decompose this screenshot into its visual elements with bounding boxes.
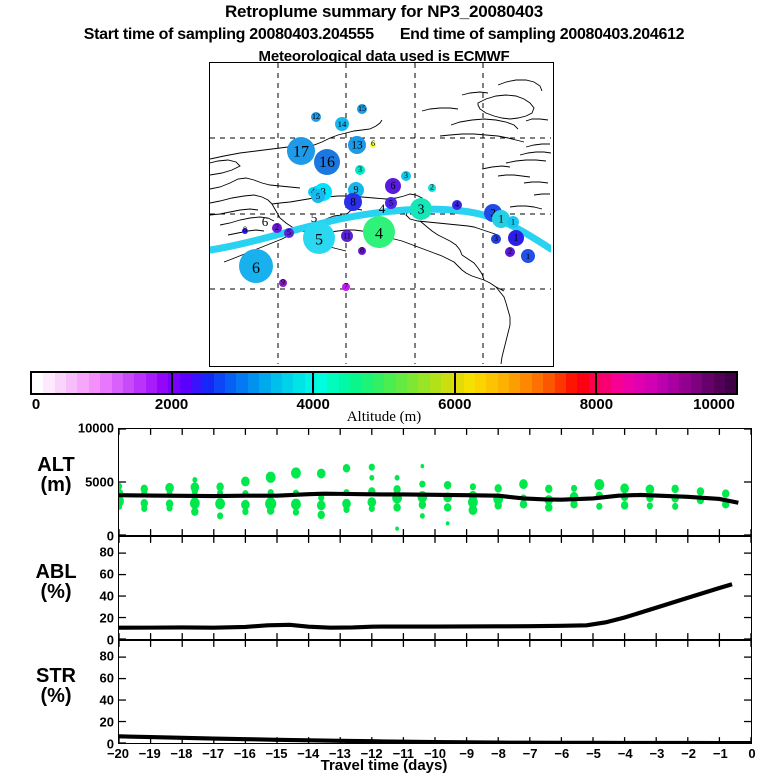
retroplume-marker-label: 17 <box>293 144 309 161</box>
colorbar-divider <box>595 371 597 395</box>
retroplume-marker-label: 2 <box>275 223 279 232</box>
alt-point <box>647 502 653 509</box>
colorbar-swatch <box>123 373 134 393</box>
alt-point <box>646 484 655 494</box>
alt-point <box>166 504 172 511</box>
alt-point <box>241 477 250 487</box>
retroplume-marker-label: 6 <box>391 181 396 192</box>
abl-tick-marks <box>119 537 751 639</box>
retroplume-marker-label: 8 <box>243 225 247 234</box>
retroplume-marker-label: 9 <box>281 278 285 287</box>
retroplume-marker-label: 2 <box>430 183 434 192</box>
alt-mean-line <box>119 494 738 503</box>
colorbar-swatch <box>225 373 236 393</box>
retroplume-marker-label: 3 <box>494 234 498 243</box>
alt-point <box>444 503 451 511</box>
colorbar-swatch <box>589 373 600 393</box>
retroplume-marker-label: 14 <box>338 119 347 129</box>
map-label: 5 <box>311 210 318 225</box>
alt-point <box>266 472 276 483</box>
colorbar-swatch <box>134 373 145 393</box>
abl-series-line <box>119 584 732 627</box>
alt-point <box>420 513 425 519</box>
str-y-ticks: 020406080 <box>48 0 114 768</box>
retroplume-marker-label: 3 <box>418 201 425 216</box>
colorbar-gradient <box>30 371 738 395</box>
colorbar-swatch <box>600 373 611 393</box>
alt-point <box>242 508 248 515</box>
retroplume-marker-label: 15 <box>358 104 366 113</box>
alt-point <box>267 506 274 514</box>
retroplume-marker-label: 1 <box>498 214 504 226</box>
retroplume-marker-label: 5 <box>316 191 321 201</box>
colorbar-swatch <box>441 373 452 393</box>
start-time-label: Start time of sampling 20080403.204555 <box>84 26 374 43</box>
retroplume-markers: 1841716121415136332985653421131214568251… <box>239 104 535 291</box>
colorbar-swatch <box>577 373 588 393</box>
colorbar-swatch <box>714 373 725 393</box>
retroplume-marker-label: 3 <box>358 165 362 174</box>
alt-point <box>470 483 476 490</box>
colorbar-swatch <box>407 373 418 393</box>
colorbar-swatch <box>361 373 372 393</box>
alt-point <box>469 505 478 515</box>
alt-point <box>419 501 426 509</box>
colorbar-swatch <box>418 373 429 393</box>
colorbar-swatch <box>509 373 520 393</box>
colorbar-swatch <box>248 373 259 393</box>
colorbar-swatch <box>146 373 157 393</box>
retroplume-marker-label: 5 <box>315 231 323 248</box>
colorbar-swatch <box>475 373 486 393</box>
alt-point <box>697 487 704 495</box>
retroplume-marker-label: 16 <box>319 154 335 171</box>
alt-point <box>545 485 552 493</box>
alt-point <box>291 499 301 510</box>
alt-point <box>293 509 299 516</box>
alt-point <box>520 500 527 508</box>
alt-point <box>594 479 604 490</box>
alt-point <box>519 479 528 489</box>
alt-point <box>317 469 326 479</box>
colorbar-swatch <box>350 373 361 393</box>
retroplume-marker-label: 4 <box>375 225 383 242</box>
alt-plot-panel[interactable] <box>118 428 752 536</box>
colorbar-swatch <box>543 373 554 393</box>
alt-point <box>621 501 628 509</box>
colorbar-divider <box>171 371 173 395</box>
alt-point <box>446 521 450 525</box>
str-plot-panel[interactable] <box>118 640 752 744</box>
end-time-label: End time of sampling 20080403.204612 <box>400 26 684 43</box>
colorbar-swatch <box>520 373 531 393</box>
retroplume-marker-label: 8 <box>350 197 356 209</box>
colorbar-swatch <box>532 373 543 393</box>
alt-point <box>419 481 425 488</box>
y-tick-label: 60 <box>54 671 114 686</box>
retroplume-marker-label: 1 <box>514 233 519 244</box>
alt-point <box>317 500 326 510</box>
map-label: 4 <box>379 201 386 216</box>
colorbar-swatch <box>657 373 668 393</box>
retroplume-marker-label: 12 <box>312 112 320 121</box>
map-canvas: 1841716121415136332985653421131214568251… <box>210 63 551 364</box>
retroplume-marker-label: 8 <box>360 246 364 255</box>
colorbar-swatch <box>691 373 702 393</box>
colorbar-swatch <box>293 373 304 393</box>
colorbar-divider <box>312 371 314 395</box>
colorbar-swatch <box>373 373 384 393</box>
colorbar-swatch <box>236 373 247 393</box>
page-title: Retroplume summary for NP3_20080403 <box>0 2 768 22</box>
alt-point <box>671 485 678 493</box>
retroplume-marker-label: 7 <box>344 282 348 291</box>
abl-plot-canvas <box>119 537 751 639</box>
alt-point <box>217 512 223 519</box>
colorbar-swatch <box>282 373 293 393</box>
colorbar-swatch <box>725 373 736 393</box>
str-plot-canvas <box>119 641 751 743</box>
retroplume-marker-label: 6 <box>371 139 375 148</box>
alt-point <box>722 489 729 497</box>
colorbar-swatch <box>339 373 350 393</box>
retroplume-map[interactable]: 1841716121415136332985653421131214568251… <box>209 62 554 367</box>
y-tick-label: 20 <box>54 715 114 730</box>
altitude-colorbar[interactable] <box>30 371 738 395</box>
colorbar-swatch <box>668 373 679 393</box>
retroplume-marker-label: 5 <box>389 198 393 207</box>
retroplume-marker-label: 2 <box>508 247 512 256</box>
retroplume-marker-label: 4 <box>455 200 459 209</box>
alt-point <box>421 464 425 468</box>
str-tick-marks <box>119 641 751 743</box>
alt-point <box>369 464 375 471</box>
colorbar-swatch <box>396 373 407 393</box>
alt-point <box>343 506 349 513</box>
colorbar-swatch <box>191 373 202 393</box>
alt-point <box>395 527 399 531</box>
alt-plot-canvas <box>119 429 751 535</box>
alt-point <box>215 498 225 509</box>
colorbar-swatch <box>566 373 577 393</box>
retroplume-marker-label: 13 <box>351 140 363 152</box>
colorbar-swatch <box>679 373 690 393</box>
alt-point <box>192 477 197 483</box>
retroplume-marker-label: 1 <box>526 251 530 261</box>
colorbar-swatch <box>316 373 327 393</box>
colorbar-swatch <box>464 373 475 393</box>
retroplume-marker-label: 11 <box>343 231 351 240</box>
x-axis-title: Travel time (days) <box>0 757 768 774</box>
retroplume-marker-label: 3 <box>404 171 408 180</box>
retroplume-marker-label: 1 <box>511 217 515 226</box>
colorbar-swatch <box>498 373 509 393</box>
colorbar-divider <box>454 371 456 395</box>
alt-point <box>369 505 375 512</box>
colorbar-swatch <box>555 373 566 393</box>
colorbar-swatch <box>384 373 395 393</box>
map-label: 6 <box>262 214 269 229</box>
retroplume-marker-label: 5 <box>287 228 291 237</box>
alt-point <box>571 485 577 492</box>
colorbar-swatch <box>623 373 634 393</box>
colorbar-swatch <box>32 373 43 393</box>
alt-point <box>444 481 451 489</box>
abl-plot-panel[interactable] <box>118 536 752 640</box>
colorbar-swatch <box>214 373 225 393</box>
colorbar-swatch <box>271 373 282 393</box>
alt-point <box>545 503 552 511</box>
colorbar-title: Altitude (m) <box>0 409 768 426</box>
retroplume-marker-label: 6 <box>252 260 260 277</box>
colorbar-swatch <box>634 373 645 393</box>
colorbar-swatch <box>702 373 713 393</box>
alt-point <box>190 498 200 509</box>
alt-point <box>494 484 501 492</box>
sampling-time-row: Start time of sampling 20080403.204555En… <box>0 26 768 44</box>
y-tick-label: 0 <box>54 737 114 752</box>
alt-point <box>369 475 374 481</box>
colorbar-swatch <box>430 373 441 393</box>
alt-point <box>620 483 629 493</box>
colorbar-swatch <box>202 373 213 393</box>
alt-point <box>672 503 678 510</box>
colorbar-swatch <box>645 373 656 393</box>
alt-point <box>291 467 301 478</box>
alt-point <box>395 475 400 481</box>
alt-point <box>141 505 147 512</box>
alt-tick-marks <box>119 429 751 535</box>
colorbar-swatch <box>486 373 497 393</box>
colorbar-swatch <box>157 373 168 393</box>
alt-point <box>318 511 325 519</box>
y-tick-label: 80 <box>54 649 114 664</box>
colorbar-swatch <box>327 373 338 393</box>
colorbar-swatch <box>611 373 622 393</box>
alt-point <box>343 464 350 472</box>
colorbar-swatch <box>180 373 191 393</box>
alt-point <box>191 507 198 515</box>
y-tick-label: 40 <box>54 693 114 708</box>
colorbar-swatch <box>305 373 316 393</box>
alt-point <box>393 503 400 511</box>
colorbar-swatch <box>259 373 270 393</box>
alt-point <box>119 483 122 490</box>
alt-point <box>494 501 501 509</box>
alt-point <box>596 503 602 510</box>
